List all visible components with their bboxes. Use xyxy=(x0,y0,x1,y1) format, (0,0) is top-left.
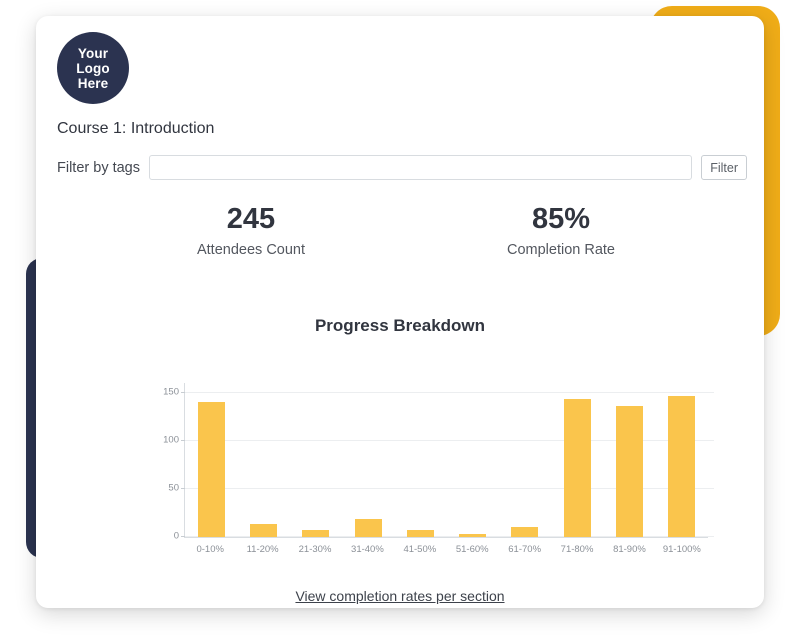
bar-slot xyxy=(603,383,655,537)
logo-line-1: Your xyxy=(78,46,108,61)
chart-bar[interactable] xyxy=(407,530,434,537)
logo-line-3: Here xyxy=(78,76,108,91)
chart-title: Progress Breakdown xyxy=(36,316,764,336)
bar-slot xyxy=(394,383,446,537)
y-axis-tick: 100 xyxy=(163,434,179,445)
x-axis-tick: 61-70% xyxy=(498,544,550,555)
filter-bar: Filter by tags Filter xyxy=(57,155,747,180)
stat-label: Completion Rate xyxy=(406,242,716,258)
filter-by-tags-label: Filter by tags xyxy=(57,160,140,176)
bar-slot xyxy=(342,383,394,537)
logo: Your Logo Here xyxy=(57,32,129,104)
chart-bar[interactable] xyxy=(459,534,486,537)
x-axis-tick: 21-30% xyxy=(289,544,341,555)
bar-slot xyxy=(237,383,289,537)
bar-slot xyxy=(499,383,551,537)
filter-button[interactable]: Filter xyxy=(701,155,747,180)
chart-plot-area: 050100150 xyxy=(184,383,708,538)
x-axis-tick: 0-10% xyxy=(184,544,236,555)
y-axis-tick: 0 xyxy=(174,531,179,542)
bar-slot xyxy=(551,383,603,537)
stat-value: 85% xyxy=(406,202,716,236)
footer-link-wrap: View completion rates per section xyxy=(36,588,764,606)
stats-row: 245 Attendees Count 85% Completion Rate xyxy=(96,202,716,258)
chart-bars xyxy=(185,383,708,537)
chart-bar[interactable] xyxy=(250,524,277,537)
x-axis-tick: 91-100% xyxy=(656,544,708,555)
x-axis-tick: 81-90% xyxy=(603,544,655,555)
y-axis-tick: 50 xyxy=(168,482,179,493)
progress-breakdown-chart: Progress Breakdown 050100150 0-10%11-20%… xyxy=(106,371,716,571)
x-axis-tick: 71-80% xyxy=(551,544,603,555)
view-completion-rates-link[interactable]: View completion rates per section xyxy=(295,588,504,604)
x-axis-tick: 31-40% xyxy=(341,544,393,555)
y-axis-tick: 150 xyxy=(163,386,179,397)
bar-slot xyxy=(185,383,237,537)
bar-slot xyxy=(446,383,498,537)
tags-filter-input[interactable] xyxy=(149,155,692,180)
x-axis-tick-labels: 0-10%11-20%21-30%31-40%41-50%51-60%61-70… xyxy=(184,544,708,555)
logo-line-2: Logo xyxy=(76,61,109,76)
bar-slot xyxy=(656,383,708,537)
bar-slot xyxy=(290,383,342,537)
dashboard-card: Your Logo Here Course 1: Introduction Fi… xyxy=(36,16,764,608)
x-axis-tick: 11-20% xyxy=(236,544,288,555)
chart-bar[interactable] xyxy=(616,406,643,537)
page-title: Course 1: Introduction xyxy=(57,120,214,138)
chart-bar[interactable] xyxy=(564,399,591,537)
stat-label: Attendees Count xyxy=(96,242,406,258)
chart-bar[interactable] xyxy=(668,396,695,537)
x-axis-tick: 41-50% xyxy=(394,544,446,555)
stat-attendees-count: 245 Attendees Count xyxy=(96,202,406,258)
chart-bar[interactable] xyxy=(198,402,225,537)
chart-bar[interactable] xyxy=(302,530,329,537)
x-axis-tick: 51-60% xyxy=(446,544,498,555)
stat-completion-rate: 85% Completion Rate xyxy=(406,202,716,258)
chart-bar[interactable] xyxy=(511,527,538,537)
stat-value: 245 xyxy=(96,202,406,236)
chart-bar[interactable] xyxy=(355,519,382,537)
